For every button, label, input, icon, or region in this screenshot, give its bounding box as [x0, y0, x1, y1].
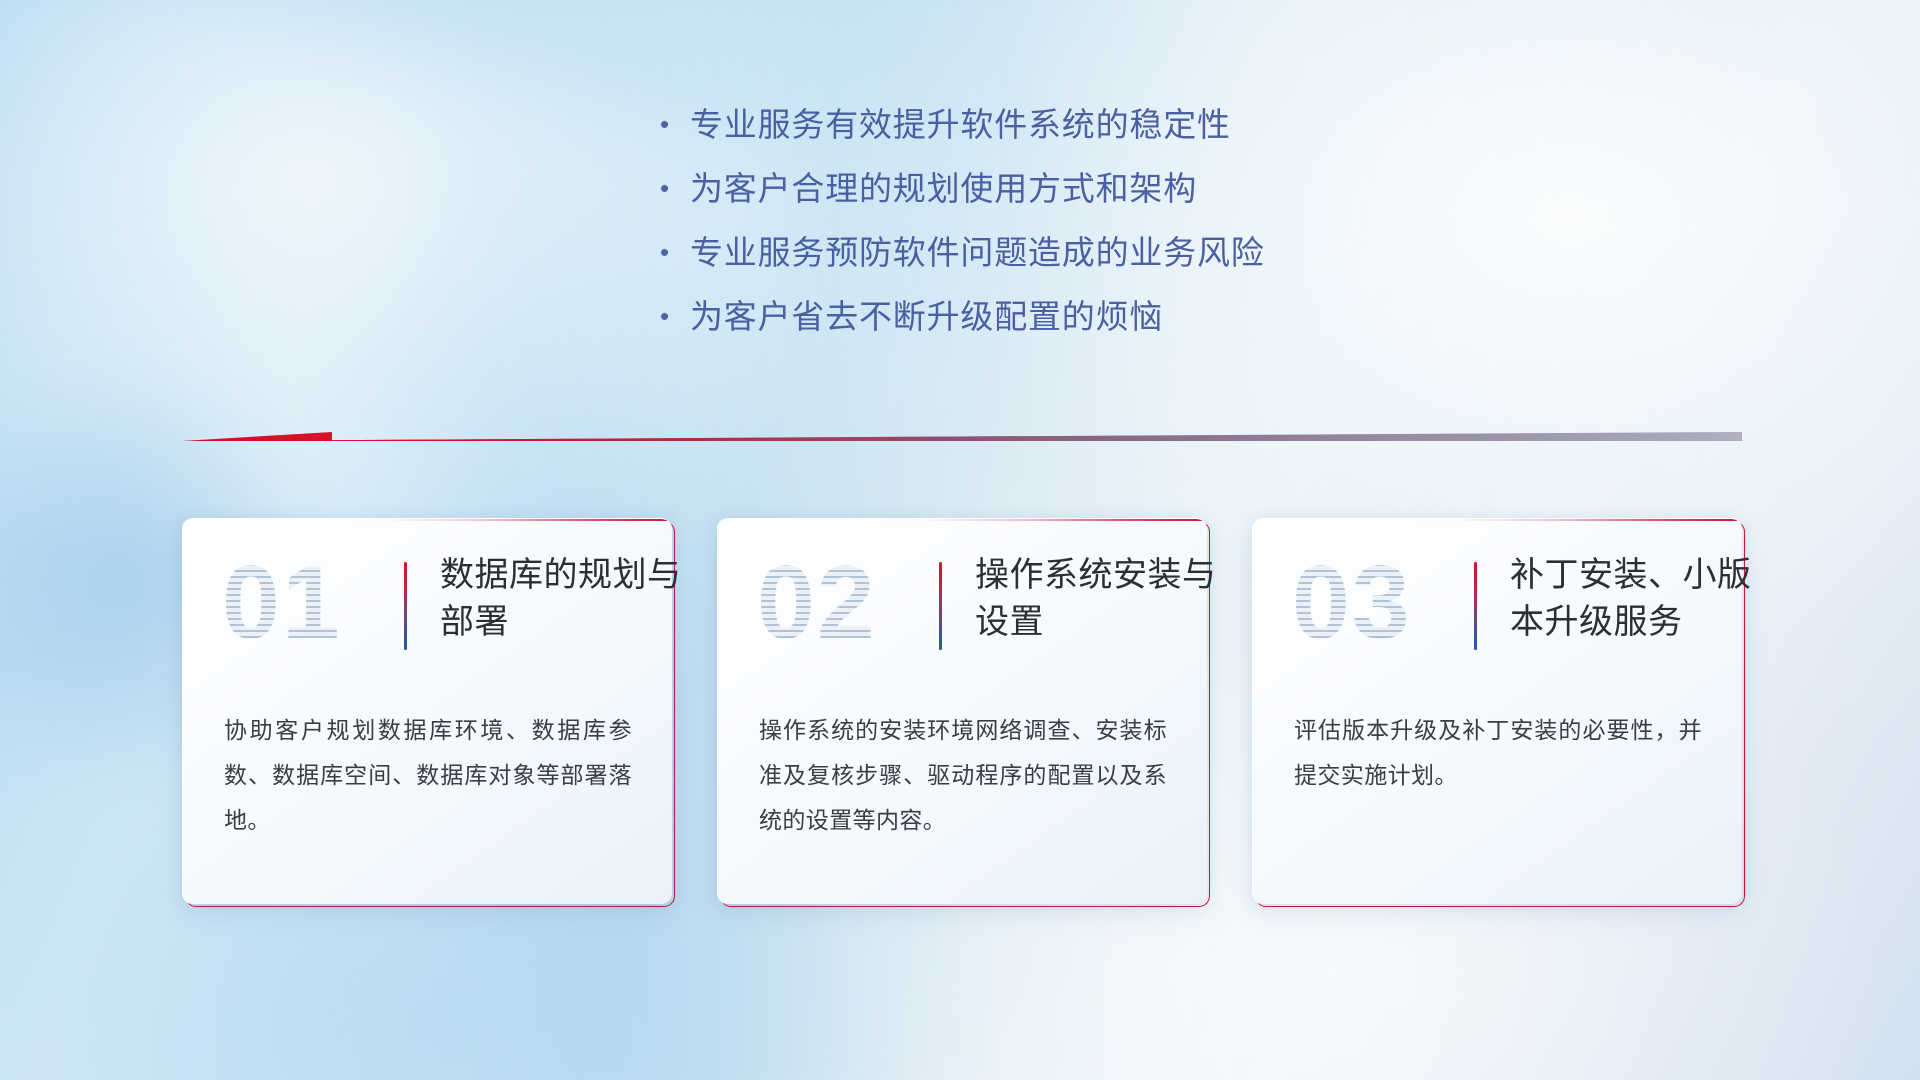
card-number-watermark: 02 — [757, 544, 907, 662]
bullet-text: 为客户合理的规划使用方式和架构 — [690, 172, 1197, 205]
card-title: 数据库的规划与部署 — [440, 552, 692, 646]
benefits-bullet-list: • 专业服务有效提升软件系统的稳定性 • 为客户合理的规划使用方式和架构 • 专… — [660, 108, 1360, 364]
card-header: 02 02 操作系统安装与设置 — [751, 548, 1173, 666]
bullet-point-icon: • — [660, 111, 690, 137]
card-accent-bar — [1474, 562, 1477, 650]
bullet-text: 专业服务有效提升软件系统的稳定性 — [690, 108, 1231, 141]
service-card-03[interactable]: 03 03 补丁安装、小版本升级服务 评估版本升级及补丁安装的必要性，并提交实施… — [1252, 518, 1742, 904]
service-card-01[interactable]: 01 01 数据库的规划与部署 协助客户规划数据库环境、数据库参数、数据库空间、… — [182, 518, 672, 904]
section-divider — [182, 424, 1742, 450]
list-item: • 为客户合理的规划使用方式和架构 — [660, 172, 1360, 236]
card-accent-bar — [939, 562, 942, 650]
card-description: 操作系统的安装环境网络调查、安装标准及复核步骤、驱动程序的配置以及系统的设置等内… — [751, 708, 1173, 843]
divider-red-tip — [182, 432, 332, 441]
bullet-text: 为客户省去不断升级配置的烦恼 — [690, 300, 1163, 333]
card-header: 03 03 补丁安装、小版本升级服务 — [1286, 548, 1708, 666]
card-number-watermark: 01 — [222, 544, 372, 662]
card-title: 操作系统安装与设置 — [975, 552, 1227, 646]
bullet-text: 专业服务预防软件问题造成的业务风险 — [690, 236, 1265, 269]
bullet-point-icon: • — [660, 175, 690, 201]
card-accent-bar — [404, 562, 407, 650]
service-card-02[interactable]: 02 02 操作系统安装与设置 操作系统的安装环境网络调查、安装标准及复核步骤、… — [717, 518, 1207, 904]
list-item: • 专业服务预防软件问题造成的业务风险 — [660, 236, 1360, 300]
list-item: • 专业服务有效提升软件系统的稳定性 — [660, 108, 1360, 172]
card-title: 补丁安装、小版本升级服务 — [1510, 552, 1762, 646]
divider-line — [182, 432, 1742, 441]
card-description: 协助客户规划数据库环境、数据库参数、数据库空间、数据库对象等部署落地。 — [216, 708, 638, 843]
card-header: 01 01 数据库的规划与部署 — [216, 548, 638, 666]
list-item: • 为客户省去不断升级配置的烦恼 — [660, 300, 1360, 364]
card-description: 评估版本升级及补丁安装的必要性，并提交实施计划。 — [1286, 708, 1708, 798]
bullet-point-icon: • — [660, 239, 690, 265]
card-number-watermark: 03 — [1292, 544, 1442, 662]
bullet-point-icon: • — [660, 303, 690, 329]
service-cards-row: 01 01 数据库的规划与部署 协助客户规划数据库环境、数据库参数、数据库空间、… — [182, 518, 1742, 924]
